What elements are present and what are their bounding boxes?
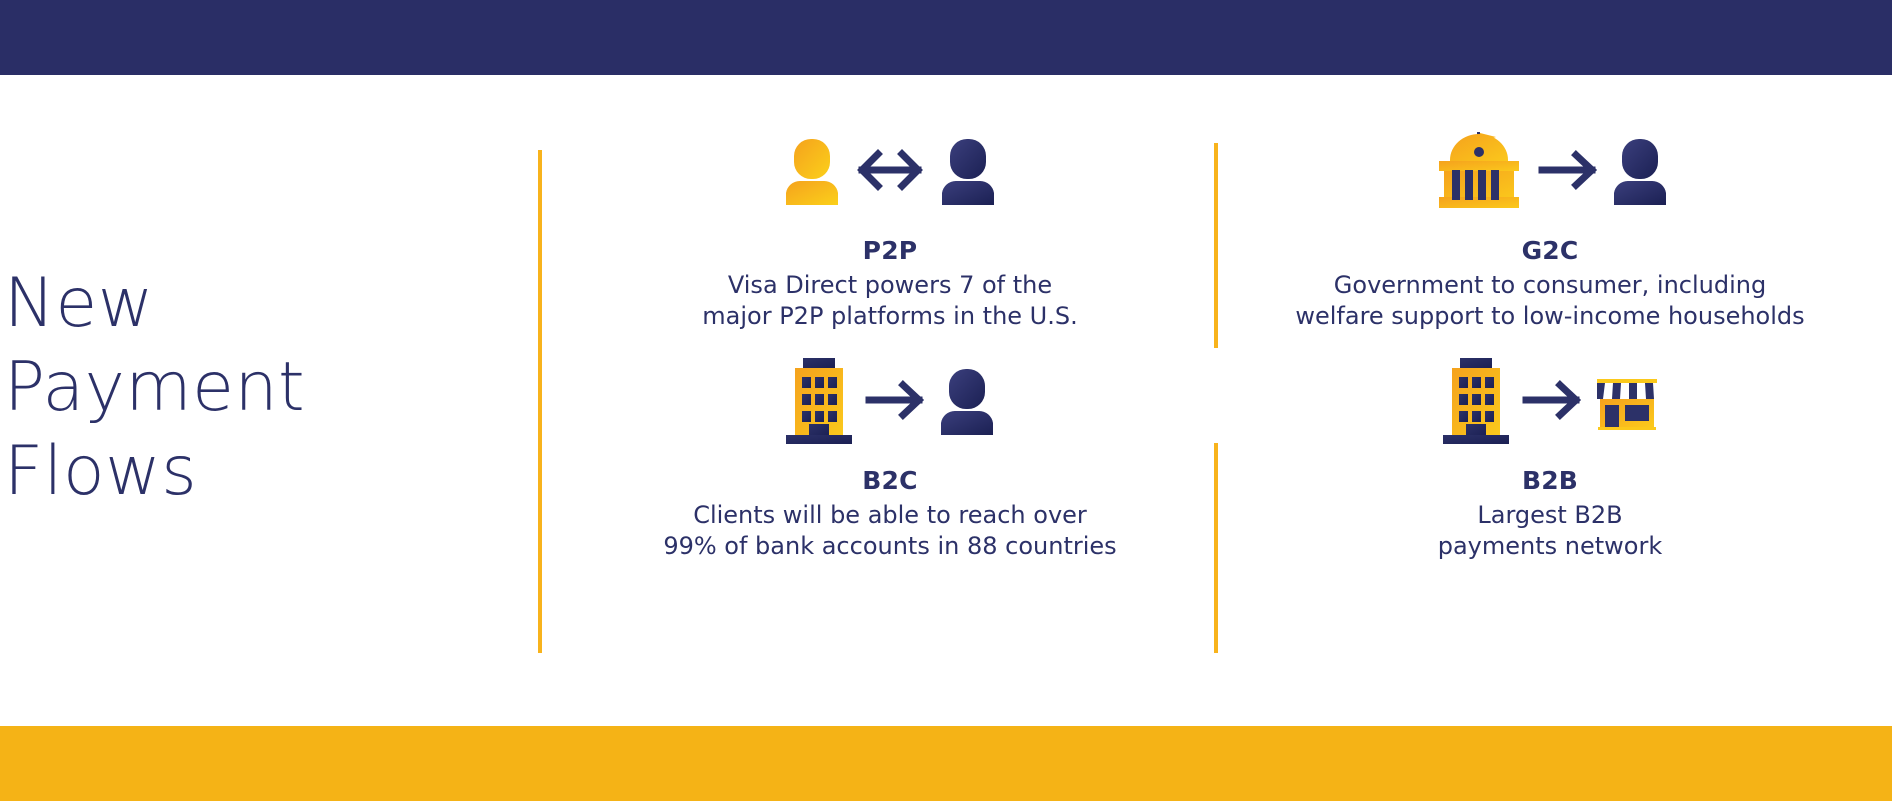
divider-left-vertical: [538, 150, 542, 653]
card-p2p-label: P2P: [560, 236, 1220, 265]
card-g2c[interactable]: G2C Government to consumer, including we…: [1220, 120, 1880, 332]
card-b2c-label: B2C: [560, 466, 1220, 495]
page-title: New Payment Flows: [4, 262, 434, 514]
arrow-right-icon: [865, 379, 927, 421]
office-building-icon: [1440, 356, 1512, 444]
card-b2b-label: B2B: [1220, 466, 1880, 495]
person-navy-icon: [937, 365, 997, 435]
card-b2b-icon-row: [1220, 350, 1880, 450]
card-p2p[interactable]: P2P Visa Direct powers 7 of the major P2…: [560, 120, 1220, 332]
double-arrow-icon: [852, 146, 928, 194]
card-b2b-description: Largest B2B payments network: [1220, 500, 1880, 562]
page-title-line-2: Payment: [4, 346, 434, 430]
card-p2p-description: Visa Direct powers 7 of the major P2P pl…: [560, 270, 1220, 332]
person-navy-icon: [938, 135, 998, 205]
slide-canvas: New Payment Flows: [0, 0, 1892, 801]
card-b2c-icon-row: [560, 350, 1220, 450]
card-b2b[interactable]: B2B Largest B2B payments network: [1220, 350, 1880, 562]
card-b2c[interactable]: B2C Clients will be able to reach over 9…: [560, 350, 1220, 562]
bottom-yellow-band: [0, 726, 1892, 801]
arrow-right-icon: [1522, 379, 1584, 421]
person-navy-icon: [1610, 135, 1670, 205]
card-p2p-icon-row: [560, 120, 1220, 220]
card-g2c-icon-row: [1220, 120, 1880, 220]
card-g2c-description: Government to consumer, including welfar…: [1220, 270, 1880, 332]
page-title-line-3: Flows: [4, 430, 434, 514]
page-title-line-1: New: [4, 262, 434, 346]
person-orange-icon: [782, 135, 842, 205]
top-navy-band: [0, 0, 1892, 75]
flow-cards-grid: P2P Visa Direct powers 7 of the major P2…: [560, 120, 1880, 680]
arrow-right-icon: [1538, 149, 1600, 191]
government-building-icon: [1430, 130, 1528, 210]
office-building-icon: [783, 356, 855, 444]
card-g2c-label: G2C: [1220, 236, 1880, 265]
card-b2c-description: Clients will be able to reach over 99% o…: [560, 500, 1220, 562]
storefront-icon: [1594, 369, 1660, 431]
